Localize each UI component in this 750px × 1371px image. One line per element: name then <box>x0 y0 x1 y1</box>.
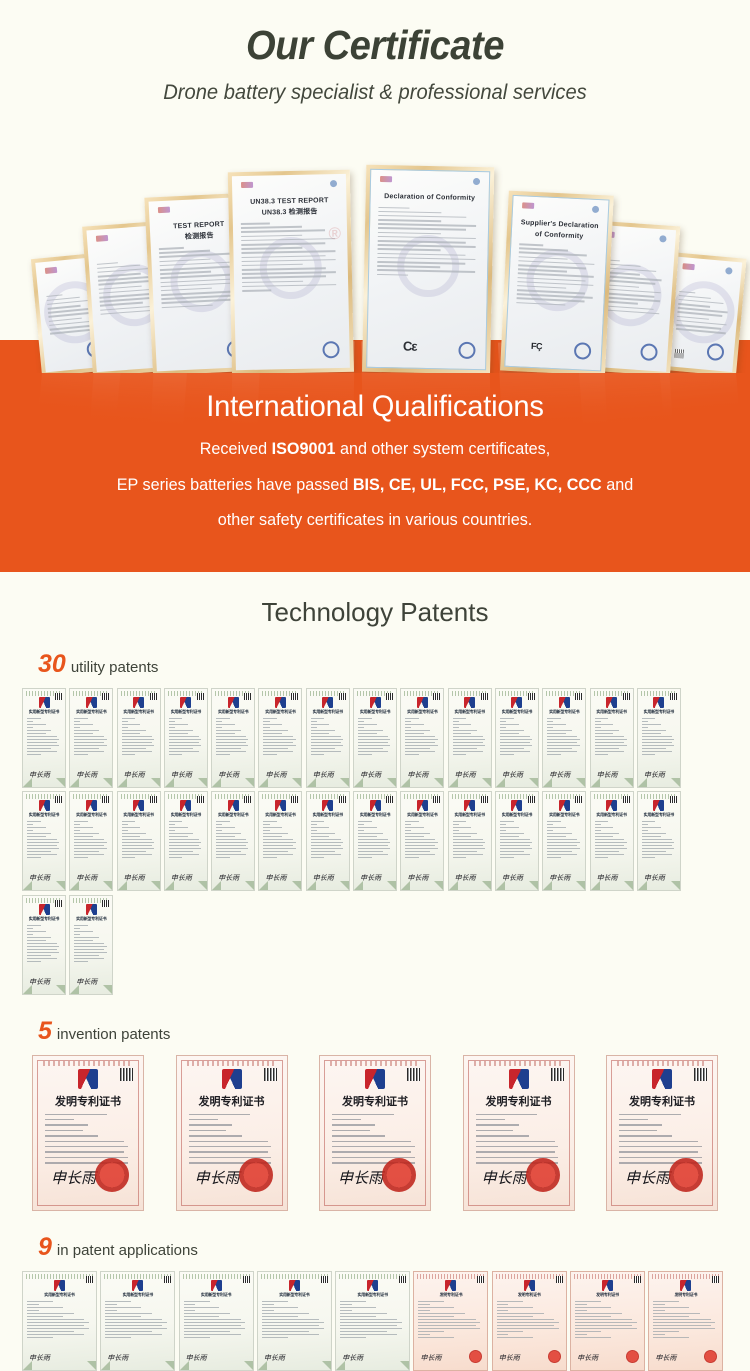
patent-text-line <box>642 824 648 825</box>
qr-code-icon <box>164 1276 171 1283</box>
patent-text-line <box>27 718 41 719</box>
patent-text-line <box>311 836 330 837</box>
qr-code-icon <box>623 693 630 700</box>
patent-text-line <box>263 733 282 734</box>
patent-text-line <box>263 848 295 849</box>
corner-ornament-icon <box>307 778 316 787</box>
patent-text-line <box>311 830 317 831</box>
utility-patent-certificate[interactable]: 实用新型专利证书申长雨 <box>258 791 302 891</box>
corner-ornament-icon <box>307 881 316 890</box>
patent-text-line <box>262 1310 274 1311</box>
utility-patent-certificate[interactable]: 实用新型专利证书申长雨 <box>637 791 681 891</box>
patent-text-line <box>122 751 152 752</box>
patent-count-row: 5invention patents <box>0 1017 750 1046</box>
patent-text-line <box>500 824 506 825</box>
patent-text-line <box>169 827 188 828</box>
patent-text-line <box>169 754 183 755</box>
patent-text-line <box>263 730 287 731</box>
patent-text-line <box>547 854 577 855</box>
patent-text-line <box>169 742 199 743</box>
patent-text-line <box>405 851 429 852</box>
corner-ornament-icon <box>638 778 647 787</box>
patent-signature: 申长雨 <box>76 770 97 780</box>
patent-text-line <box>453 721 459 722</box>
patent-text-line <box>311 754 325 755</box>
patent-text-line <box>453 754 467 755</box>
utility-patent-certificate[interactable]: 实用新型专利证书申长雨 <box>211 688 255 788</box>
patent-body <box>496 715 538 755</box>
patent-body <box>212 818 254 858</box>
corner-ornament-icon <box>401 778 410 787</box>
patent-text-line <box>122 727 128 728</box>
patent-count: 30 <box>38 650 66 679</box>
patent-text-line <box>340 1328 402 1329</box>
utility-patent-certificate[interactable]: 实用新型专利证书申长雨 <box>179 1271 254 1371</box>
utility-patent-certificate[interactable]: 实用新型专利证书申长雨 <box>637 688 681 788</box>
patent-text-line <box>27 1328 89 1329</box>
patent-text-line <box>27 1337 53 1338</box>
patent-application-certificate[interactable]: 发明专利证书申长雨 <box>648 1271 723 1371</box>
patent-text-line <box>27 721 33 722</box>
patent-text-line <box>74 931 93 932</box>
patent-text-line <box>453 745 485 746</box>
patent-text-line <box>405 727 411 728</box>
patent-body <box>23 818 65 858</box>
patent-text-line <box>547 845 577 846</box>
patent-text-line <box>595 848 627 849</box>
utility-patent-certificate[interactable]: 实用新型专利证书申长雨 <box>164 791 208 891</box>
patent-text-line <box>74 961 88 962</box>
invention-patent-certificate[interactable]: 发明专利证书申长雨 <box>176 1055 288 1211</box>
patent-text-line <box>405 739 437 740</box>
cnipa-logo-icon <box>680 1280 691 1291</box>
qr-code-icon <box>386 693 393 700</box>
corner-ornament-icon <box>165 778 174 787</box>
patent-text-line <box>74 745 106 746</box>
patent-text-line <box>45 1119 74 1120</box>
patent-text-line <box>27 940 46 941</box>
patent-text-line <box>189 1146 272 1147</box>
patent-body <box>354 715 396 755</box>
patent-text-line <box>263 851 287 852</box>
utility-patent-certificate[interactable]: 实用新型专利证书申长雨 <box>495 688 539 788</box>
official-seal-icon <box>95 1158 129 1192</box>
patent-grid-invention: 发明专利证书申长雨发明专利证书申长雨发明专利证书申长雨发明专利证书申长雨发明专利… <box>0 1055 750 1211</box>
utility-patent-certificate[interactable]: 实用新型专利证书申长雨 <box>164 688 208 788</box>
patent-text-line <box>418 1301 444 1302</box>
cnipa-logo-icon <box>367 1280 378 1291</box>
patent-text-line <box>216 745 248 746</box>
corner-ornament-icon <box>259 881 268 890</box>
patent-text-line <box>216 727 222 728</box>
patent-text-line <box>105 1304 117 1305</box>
patent-text-line <box>216 839 246 840</box>
qr-code-icon <box>291 796 298 803</box>
patent-heading: 实用新型专利证书 <box>165 709 207 715</box>
invention-patent-certificate[interactable]: 发明专利证书申长雨 <box>319 1055 431 1211</box>
patent-text-line <box>263 742 293 743</box>
patent-text-line <box>595 833 619 834</box>
patent-text-line <box>169 845 199 846</box>
utility-patent-certificate[interactable]: 实用新型专利证书申长雨 <box>590 688 634 788</box>
patent-text-line <box>122 830 128 831</box>
utility-patent-certificate[interactable]: 实用新型专利证书申长雨 <box>448 791 492 891</box>
patent-text-line <box>27 1322 89 1323</box>
patent-text-line <box>74 851 98 852</box>
corner-ornament-icon <box>322 1361 331 1370</box>
patent-text-line <box>358 733 377 734</box>
patent-text-line <box>340 1307 376 1308</box>
patent-text-line <box>74 751 104 752</box>
patent-text-line <box>263 833 287 834</box>
patent-text-line <box>642 730 666 731</box>
patent-text-line <box>45 1124 88 1125</box>
patent-signature: 申长雨 <box>407 770 428 780</box>
patent-text-line <box>189 1141 268 1142</box>
patent-text-line <box>418 1319 475 1320</box>
patent-text-line <box>476 1119 505 1120</box>
invention-patent-certificate[interactable]: 发明专利证书申长雨 <box>32 1055 144 1211</box>
patent-text-line <box>216 851 240 852</box>
patent-top-ornament <box>187 1061 277 1066</box>
patent-text-line <box>500 857 514 858</box>
patent-text-line <box>74 934 80 935</box>
patent-text-line <box>358 836 377 837</box>
patent-text-line <box>74 946 106 947</box>
utility-patent-certificate[interactable]: 实用新型专利证书申长雨 <box>211 791 255 891</box>
patent-signature: 申长雨 <box>218 770 239 780</box>
patent-text-line <box>497 1313 544 1314</box>
patent-text-line <box>619 1135 672 1136</box>
patent-text-line <box>263 845 293 846</box>
utility-patent-certificate[interactable]: 实用新型专利证书申长雨 <box>448 688 492 788</box>
corner-ornament-icon <box>400 1361 409 1370</box>
patent-text-line <box>547 751 577 752</box>
patent-top-ornament <box>183 1274 250 1279</box>
patent-text-line <box>184 1328 246 1329</box>
patent-text-line <box>619 1130 657 1131</box>
utility-patent-certificate[interactable]: 实用新型专利证书申长雨 <box>69 791 113 891</box>
qr-code-icon <box>528 796 535 803</box>
utility-patent-certificate[interactable]: 实用新型专利证书申长雨 <box>100 1271 175 1371</box>
patent-heading: 实用新型专利证书 <box>638 812 680 818</box>
qr-code-icon <box>55 796 62 803</box>
patent-text-line <box>45 1151 124 1152</box>
utility-patent-certificate[interactable]: 实用新型专利证书申长雨 <box>257 1271 332 1371</box>
patent-text-line <box>262 1334 319 1335</box>
patent-text-line <box>27 842 59 843</box>
patent-text-line <box>27 748 51 749</box>
patent-text-line <box>216 836 235 837</box>
patent-body <box>591 715 633 755</box>
patent-text-line <box>74 842 106 843</box>
patent-heading: 实用新型专利证书 <box>307 812 349 818</box>
utility-patent-certificate[interactable]: 实用新型专利证书申长雨 <box>306 791 350 891</box>
patent-heading: 实用新型专利证书 <box>591 812 633 818</box>
utility-patent-certificate[interactable]: 实用新型专利证书申长雨 <box>400 791 444 891</box>
corner-ornament-icon <box>70 881 79 890</box>
patent-text-line <box>27 848 59 849</box>
patent-signature: 申长雨 <box>313 873 334 883</box>
patent-text-line <box>311 854 341 855</box>
patent-top-ornament <box>652 1274 719 1279</box>
band-line-3: other safety certificates in various cou… <box>8 510 743 531</box>
qr-code-icon <box>528 693 535 700</box>
utility-patent-certificate[interactable]: 实用新型专利证书申长雨 <box>400 688 444 788</box>
invention-patent-certificate[interactable]: 发明专利证书申长雨 <box>606 1055 718 1211</box>
patent-text-line <box>547 833 571 834</box>
patent-text-line <box>74 857 88 858</box>
corner-ornament-icon <box>70 985 79 994</box>
lab-logo-icon <box>522 202 534 209</box>
qr-code-icon <box>102 796 109 803</box>
patent-signature: 申长雨 <box>644 873 665 883</box>
patent-text-line <box>453 718 467 719</box>
patent-signature: 申长雨 <box>29 770 50 780</box>
utility-patent-certificate[interactable]: 实用新型专利证书申长雨 <box>22 688 66 788</box>
lab-logo-icon <box>241 182 253 188</box>
utility-patent-certificate[interactable]: 实用新型专利证书申长雨 <box>117 791 161 891</box>
patent-text-line <box>169 745 201 746</box>
patent-text-line <box>105 1310 117 1311</box>
patent-text-line <box>547 739 579 740</box>
utility-patent-certificate[interactable]: 实用新型专利证书申长雨 <box>495 791 539 891</box>
patent-text-line <box>122 857 136 858</box>
patent-text-line <box>45 1114 107 1115</box>
patent-text-line <box>74 845 104 846</box>
patent-body <box>23 922 65 962</box>
corner-ornament-icon <box>259 778 268 787</box>
patent-text-line <box>453 827 472 828</box>
patent-text-line <box>547 742 577 743</box>
patent-text-line <box>642 854 672 855</box>
patent-text-line <box>340 1322 402 1323</box>
patent-text-line <box>189 1135 242 1136</box>
utility-patent-certificate[interactable]: 实用新型专利证书申长雨 <box>69 895 113 995</box>
utility-patent-certificate[interactable]: 实用新型专利证书申长雨 <box>590 791 634 891</box>
qr-code-icon <box>150 693 157 700</box>
patent-application-certificate[interactable]: 发明专利证书申长雨 <box>413 1271 488 1371</box>
patent-text-line <box>169 748 193 749</box>
patent-application-certificate[interactable]: 发明专利证书申长雨 <box>492 1271 567 1371</box>
patent-text-line <box>311 727 317 728</box>
patent-text-line <box>418 1334 430 1335</box>
cnipa-logo-icon <box>180 697 191 708</box>
patent-text-line <box>358 854 388 855</box>
patent-text-line <box>263 854 293 855</box>
utility-patent-certificate[interactable]: 实用新型专利证书申长雨 <box>335 1271 410 1371</box>
patent-text-line <box>405 754 419 755</box>
utility-patent-certificate[interactable]: 实用新型专利证书申长雨 <box>117 688 161 788</box>
patent-signature: 申长雨 <box>407 873 428 883</box>
qr-code-icon <box>399 1276 406 1283</box>
patent-text-line <box>332 1119 361 1120</box>
patent-application-certificate[interactable]: 发明专利证书申长雨 <box>570 1271 645 1371</box>
patent-signature: 申长雨 <box>644 770 665 780</box>
patent-text-line <box>332 1130 370 1131</box>
patent-text-line <box>358 721 364 722</box>
patent-text-line <box>340 1325 397 1326</box>
patent-text-line <box>653 1301 679 1302</box>
patent-text-line <box>311 748 335 749</box>
patent-text-line <box>263 724 282 725</box>
patent-text-line <box>500 748 524 749</box>
utility-patent-certificate[interactable]: 实用新型专利证书申长雨 <box>353 688 397 788</box>
patent-text-line <box>27 1313 74 1314</box>
qr-code-icon <box>433 796 440 803</box>
patent-text-line <box>405 845 435 846</box>
patent-text-line <box>169 751 199 752</box>
patent-text-line <box>216 742 246 743</box>
patent-body <box>591 818 633 858</box>
invention-patent-certificate[interactable]: 发明专利证书申长雨 <box>463 1055 575 1211</box>
qr-code-icon <box>712 1276 719 1283</box>
patent-text-line <box>497 1301 523 1302</box>
certificate-text-line <box>377 273 408 275</box>
patent-text-line <box>263 754 277 755</box>
patent-text-line <box>642 742 672 743</box>
corner-ornament-icon <box>624 881 633 890</box>
page-subtitle: Drone battery specialist & professional … <box>15 81 735 105</box>
certificate-logo-row <box>237 179 341 189</box>
corner-ornament-icon <box>151 881 160 890</box>
utility-patent-certificate[interactable]: 实用新型专利证书申长雨 <box>258 688 302 788</box>
patent-signature: 申长雨 <box>502 770 523 780</box>
patent-heading: 实用新型专利证书 <box>212 709 254 715</box>
patent-text-line <box>619 1114 681 1115</box>
patent-text-line <box>642 736 672 737</box>
patent-text-line <box>216 842 248 843</box>
patent-text-line <box>169 733 188 734</box>
cnipa-logo-icon <box>86 800 97 811</box>
patent-text-line <box>619 1124 662 1125</box>
patent-text-line <box>497 1337 533 1338</box>
utility-patent-certificate[interactable]: 实用新型专利证书申长雨 <box>306 688 350 788</box>
utility-patent-certificate[interactable]: 实用新型专利证书申长雨 <box>22 1271 97 1371</box>
patent-text-line <box>575 1331 601 1332</box>
patent-text-line <box>595 857 609 858</box>
corner-ornament-icon <box>354 881 363 890</box>
corner-ornament-icon <box>340 778 349 787</box>
official-seal-icon <box>548 1350 561 1363</box>
cnipa-logo-icon <box>322 697 333 708</box>
utility-patent-certificate[interactable]: 实用新型专利证书申长雨 <box>22 791 66 891</box>
patent-body <box>118 715 160 755</box>
band-line-2: EP series batteries have passed BIS, CE,… <box>8 475 743 496</box>
patent-text-line <box>262 1322 324 1323</box>
patent-text-line <box>642 724 661 725</box>
cnipa-logo-icon <box>464 697 475 708</box>
patent-text-line <box>27 937 51 938</box>
patent-text-line <box>122 845 152 846</box>
patent-text-line <box>263 830 269 831</box>
patent-heading: 实用新型专利证书 <box>165 812 207 818</box>
patent-text-line <box>453 751 483 752</box>
patent-text-line <box>500 751 530 752</box>
certificate-text-line <box>519 247 568 251</box>
certificate-page: Supplier's Declaration of ConformityFÇ <box>504 195 609 372</box>
qr-code-icon <box>102 900 109 907</box>
patent-text-line <box>500 833 524 834</box>
patent-text-line <box>595 851 619 852</box>
utility-patent-certificate[interactable]: 实用新型专利证书申长雨 <box>542 688 586 788</box>
patent-text-line <box>500 845 530 846</box>
utility-patent-certificate[interactable]: 实用新型专利证书申长雨 <box>69 688 113 788</box>
certificate-text-line <box>378 227 466 230</box>
patent-text-line <box>311 827 330 828</box>
lab-logo-icon <box>380 176 392 182</box>
patent-text-line <box>105 1313 152 1314</box>
utility-patent-certificate[interactable]: 实用新型专利证书申长雨 <box>353 791 397 891</box>
patent-body <box>354 818 396 858</box>
patent-text-line <box>263 824 269 825</box>
cnipa-logo-icon <box>133 697 144 708</box>
utility-patent-certificate[interactable]: 实用新型专利证书申长雨 <box>22 895 66 995</box>
patent-text-line <box>262 1307 298 1308</box>
patent-text-line <box>27 955 51 956</box>
patent-heading: 实用新型专利证书 <box>543 812 585 818</box>
patent-count: 9 <box>38 1233 52 1262</box>
qr-code-icon <box>477 1276 484 1283</box>
patent-text-line <box>453 733 472 734</box>
patent-text-line <box>122 842 154 843</box>
patent-text-line <box>497 1304 509 1305</box>
patent-text-line <box>405 836 424 837</box>
patent-text-line <box>122 724 141 725</box>
patent-text-line <box>74 955 98 956</box>
patent-text-line <box>27 931 46 932</box>
corner-ornament-icon <box>212 778 221 787</box>
patent-signature: 申长雨 <box>313 770 334 780</box>
qr-code-icon <box>386 796 393 803</box>
certificate-text-line <box>241 226 302 229</box>
patent-text-line <box>358 748 382 749</box>
patent-text-line <box>27 1307 63 1308</box>
patent-text-line <box>575 1328 637 1329</box>
qr-code-icon <box>55 693 62 700</box>
qr-code-icon <box>481 693 488 700</box>
patent-text-line <box>642 745 674 746</box>
patent-heading: 实用新型专利证书 <box>118 812 160 818</box>
cnipa-logo-icon <box>653 697 664 708</box>
patent-text-line <box>27 739 59 740</box>
certificate-text-line <box>242 289 271 291</box>
certificate-frame: UN38.3 TEST REPORTUN38.3 检测报告® <box>228 170 354 373</box>
patent-text-line <box>27 830 33 831</box>
patent-text-line <box>27 946 59 947</box>
patent-text-line <box>500 730 524 731</box>
patent-text-line <box>189 1130 227 1131</box>
patent-text-line <box>27 821 41 822</box>
patent-text-line <box>453 727 459 728</box>
patent-text-line <box>216 736 246 737</box>
patent-body <box>638 715 680 755</box>
patent-signature: 申长雨 <box>338 1167 383 1188</box>
patent-text-line <box>169 718 183 719</box>
official-seal-icon <box>704 1350 717 1363</box>
patent-text-line <box>575 1325 632 1326</box>
patent-text-line <box>105 1337 131 1338</box>
patent-text-line <box>642 718 656 719</box>
patent-text-line <box>169 736 199 737</box>
patent-text-line <box>74 821 88 822</box>
patent-body <box>543 818 585 858</box>
utility-patent-certificate[interactable]: 实用新型专利证书申长雨 <box>542 791 586 891</box>
patent-text-line <box>340 1331 387 1332</box>
patent-text-line <box>122 754 136 755</box>
patent-text-line <box>169 727 175 728</box>
patent-text-line <box>45 1146 128 1147</box>
